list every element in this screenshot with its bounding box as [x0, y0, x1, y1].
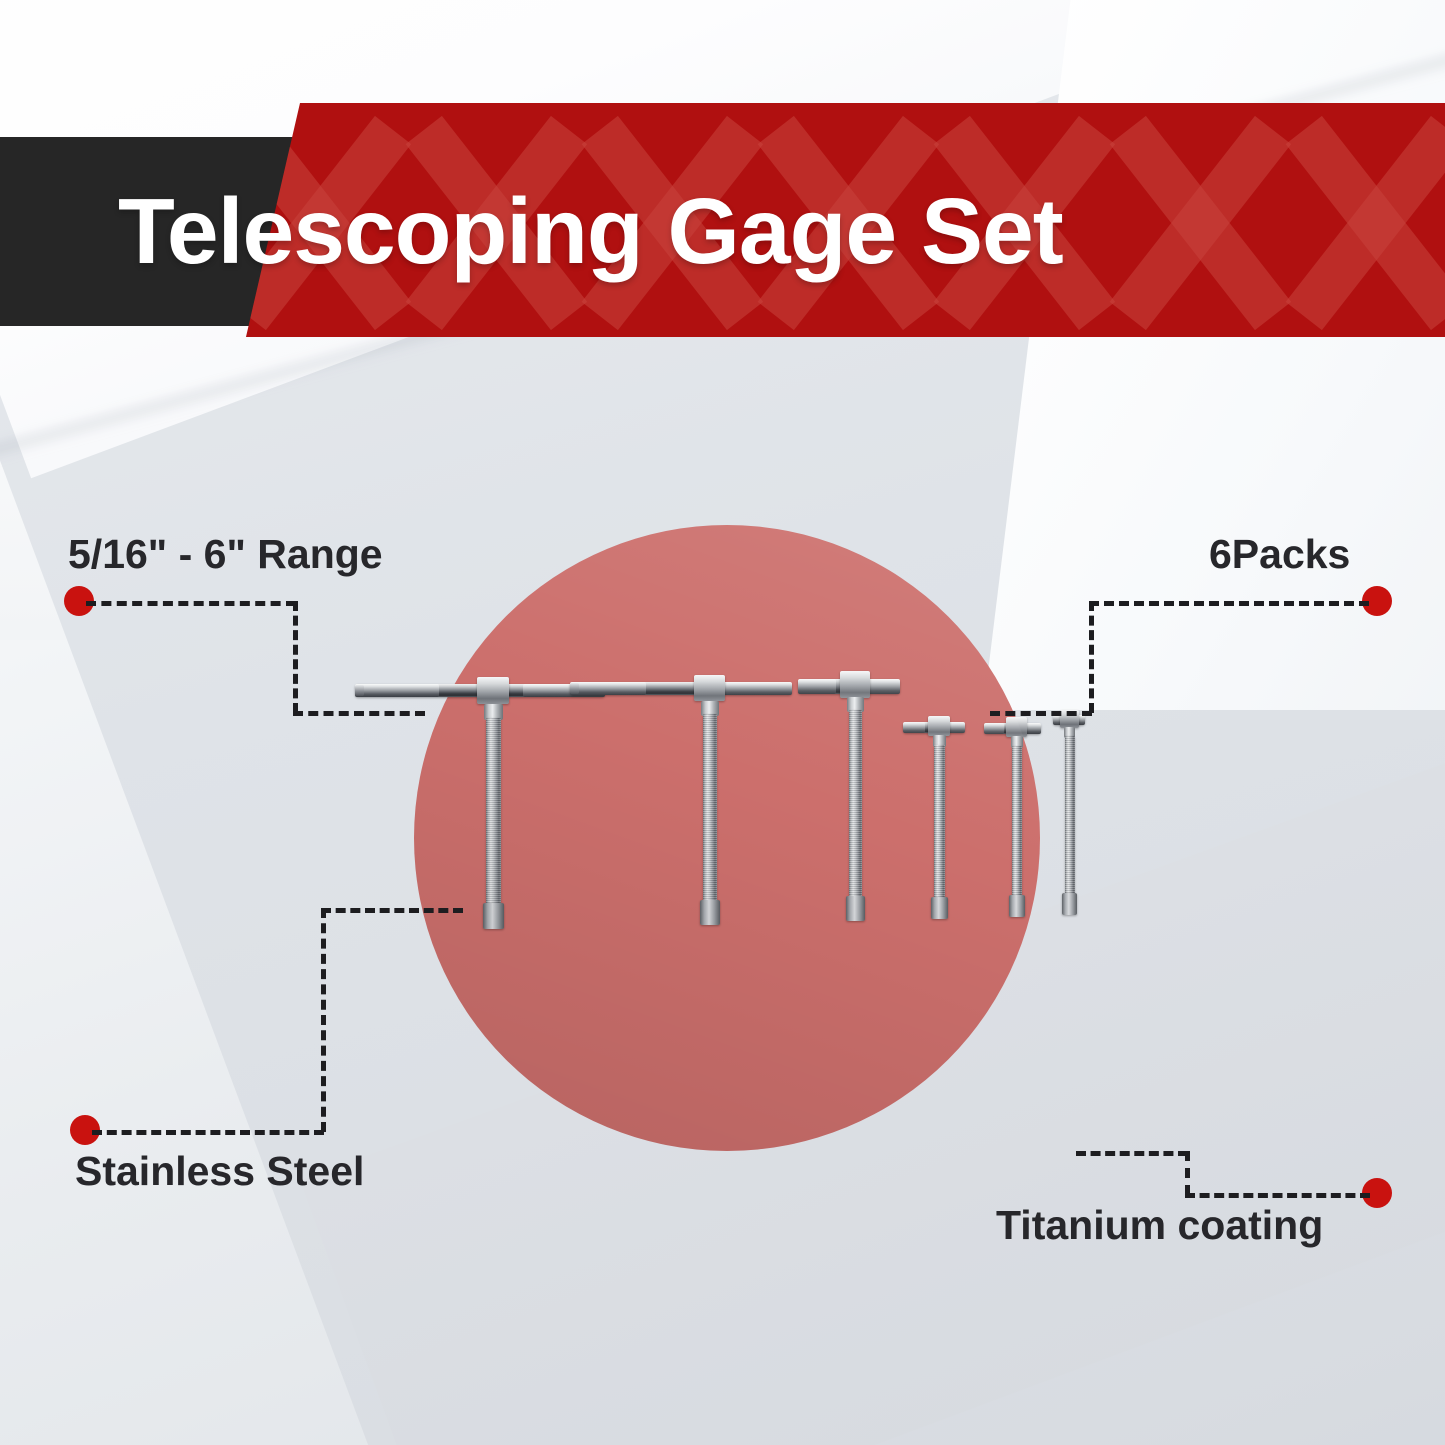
callout-packs-line-v: [1089, 601, 1094, 713]
callout-coating-line-h1: [1185, 1193, 1370, 1198]
bar-tip-cap: [355, 685, 364, 696]
callout-range-line-h1: [86, 601, 296, 606]
callout-range-line-h2: [293, 711, 425, 716]
callout-material-line-h1: [92, 1130, 324, 1135]
callout-material-line-v: [321, 908, 326, 1132]
callout-material-line-h2: [321, 908, 463, 913]
callout-packs-line-h1: [1089, 601, 1369, 606]
infographic-canvas: Telescoping Gage Set: [0, 0, 1445, 1445]
product-circle-shading: [414, 525, 1040, 1151]
knurl-texture: [1065, 736, 1075, 896]
gauge-6-end-cap: [1062, 893, 1077, 915]
callout-coating-label: Titanium coating: [996, 1202, 1323, 1249]
callout-coating-line-h2: [1076, 1151, 1188, 1156]
callout-packs-label: 6Packs: [1209, 531, 1350, 578]
callout-range-label: 5/16" - 6" Range: [68, 531, 383, 578]
gauge-6-handle: [1065, 736, 1075, 896]
callout-range-line-v: [293, 601, 298, 713]
callout-coating-line-v: [1185, 1151, 1190, 1195]
callout-packs-line-h2: [990, 711, 1092, 716]
bar-inner-plunger: [355, 684, 439, 697]
callout-material-label: Stainless Steel: [75, 1148, 364, 1195]
